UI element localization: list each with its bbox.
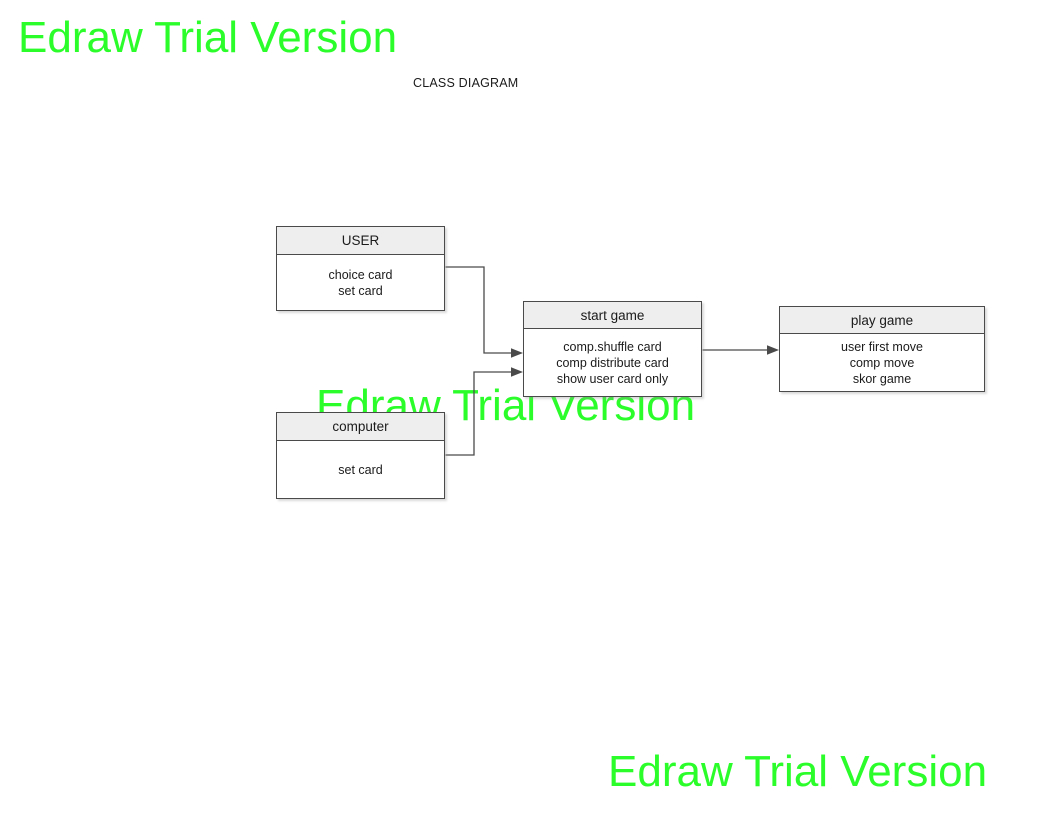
class-box-user[interactable]: USER choice card set card (276, 226, 445, 311)
class-name-start-game: start game (524, 302, 701, 329)
member-item: show user card only (557, 371, 668, 387)
class-name-play-game: play game (780, 307, 984, 334)
class-box-computer[interactable]: computer set card (276, 412, 445, 499)
watermark-bottom: Edraw Trial Version (608, 750, 987, 794)
member-item: user first move (841, 339, 923, 355)
member-item: set card (338, 462, 382, 478)
member-item: comp.shuffle card (563, 339, 661, 355)
member-item: choice card (329, 267, 393, 283)
member-item: comp move (850, 355, 915, 371)
watermark-top: Edraw Trial Version (18, 16, 397, 60)
connector-user-to-start-game (446, 267, 524, 358)
connector-start-game-to-play-game (703, 345, 780, 355)
class-members-user: choice card set card (277, 255, 444, 310)
class-members-play-game: user first move comp move skor game (780, 334, 984, 391)
member-item: comp distribute card (556, 355, 669, 371)
diagram-title: CLASS DIAGRAM (413, 76, 518, 90)
diagram-canvas: Edraw Trial Version Edraw Trial Version … (0, 0, 1056, 816)
member-item: skor game (853, 371, 911, 387)
class-box-start-game[interactable]: start game comp.shuffle card comp distri… (523, 301, 702, 397)
class-name-computer: computer (277, 413, 444, 441)
class-name-user: USER (277, 227, 444, 255)
class-members-start-game: comp.shuffle card comp distribute card s… (524, 329, 701, 396)
class-box-play-game[interactable]: play game user first move comp move skor… (779, 306, 985, 392)
class-members-computer: set card (277, 441, 444, 498)
member-item: set card (338, 283, 382, 299)
